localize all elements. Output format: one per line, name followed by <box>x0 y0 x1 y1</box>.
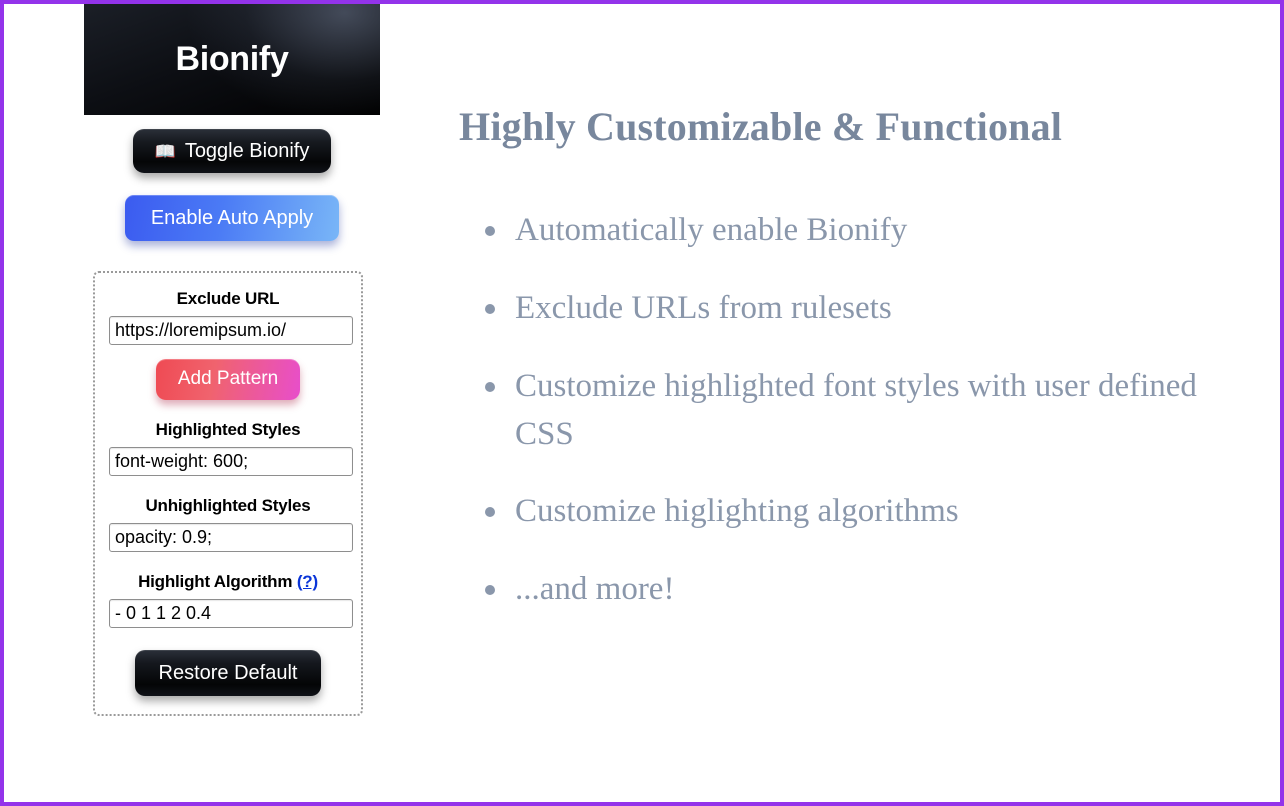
popup-header: Bionify <box>84 4 380 115</box>
bionify-extension-popup: Bionify 📖 Toggle Bionify Enable Auto App… <box>84 4 380 716</box>
exclude-url-label: Exclude URL <box>109 289 347 309</box>
highlighted-styles-label: Highlighted Styles <box>109 420 347 440</box>
highlight-algorithm-input[interactable] <box>109 599 353 628</box>
bullet-dot-icon <box>485 585 495 595</box>
restore-default-button[interactable]: Restore Default <box>135 650 322 696</box>
enable-auto-apply-button[interactable]: Enable Auto Apply <box>125 195 339 241</box>
list-item: ...and more! <box>459 566 1249 614</box>
bullet-dot-icon <box>485 226 495 236</box>
list-item-label: Exclude URLs from rulesets <box>515 290 892 326</box>
list-item: Customize higlighting algorithms <box>459 488 1249 536</box>
auto-apply-button-row: Enable Auto Apply <box>84 173 380 241</box>
page-title: Highly Customizable & Functional <box>459 102 1249 152</box>
feature-bullet-list: Automatically enable Bionify Exclude URL… <box>459 207 1249 614</box>
slide-canvas: Bionify 📖 Toggle Bionify Enable Auto App… <box>0 0 1284 806</box>
slide-content: Highly Customizable & Functional Automat… <box>459 102 1249 644</box>
highlighted-styles-input[interactable] <box>109 447 353 476</box>
highlight-algorithm-help-link[interactable]: (?) <box>297 572 318 591</box>
list-item-label: Customize highlighted font styles with u… <box>515 368 1197 452</box>
app-title: Bionify <box>175 40 288 79</box>
list-item-label: ...and more! <box>515 571 674 607</box>
list-item-label: Customize higlighting algorithms <box>515 493 959 529</box>
highlight-algorithm-label-text: Highlight Algorithm <box>138 572 292 591</box>
toggle-bionify-label: Toggle Bionify <box>185 139 310 163</box>
bullet-dot-icon <box>485 304 495 314</box>
unhighlighted-styles-input[interactable] <box>109 523 353 552</box>
bullet-dot-icon <box>485 382 495 392</box>
list-item: Automatically enable Bionify <box>459 207 1249 255</box>
bullet-dot-icon <box>485 507 495 517</box>
list-item-label: Automatically enable Bionify <box>515 212 907 248</box>
open-book-icon: 📖 <box>155 143 176 160</box>
unhighlighted-styles-label: Unhighlighted Styles <box>109 496 347 516</box>
add-pattern-button[interactable]: Add Pattern <box>156 359 300 400</box>
list-item: Exclude URLs from rulesets <box>459 285 1249 333</box>
toggle-bionify-button[interactable]: 📖 Toggle Bionify <box>133 129 332 173</box>
highlight-algorithm-label: Highlight Algorithm (?) <box>109 572 347 592</box>
toggle-button-row: 📖 Toggle Bionify <box>84 115 380 173</box>
list-item: Customize highlighted font styles with u… <box>459 363 1249 459</box>
exclude-url-input[interactable] <box>109 316 353 345</box>
settings-panel: Exclude URL Add Pattern Highlighted Styl… <box>93 271 363 716</box>
